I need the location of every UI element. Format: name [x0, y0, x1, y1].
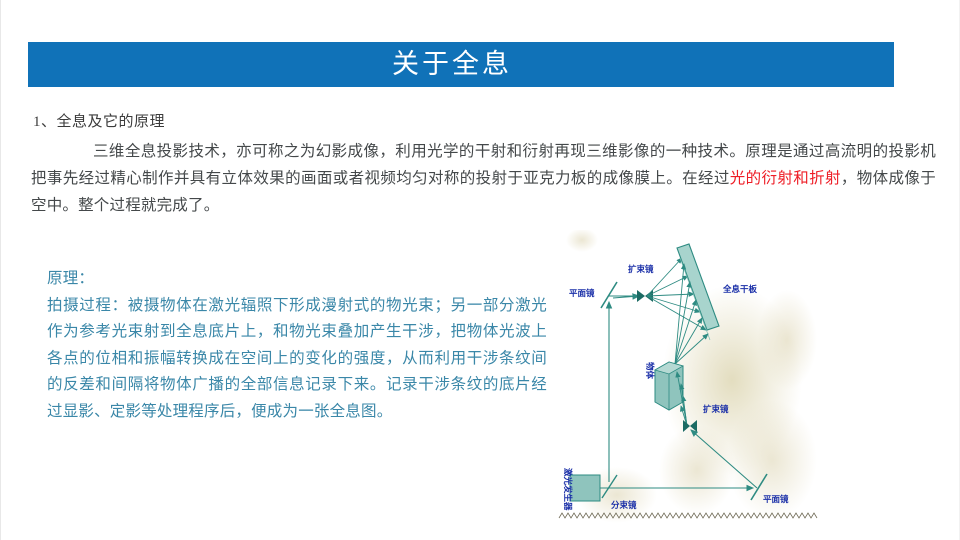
label-beam-expander-top: 扩束镜 [628, 264, 654, 274]
intro-paragraph: 三维全息投影技术，亦可称之为幻影成像，利用光学的干射和衍射再现三维影像的一种技术… [31, 138, 936, 219]
section-heading: 1、全息及它的原理 [33, 110, 165, 131]
slide-title: 关于全息 [392, 51, 530, 78]
label-beam-splitter: 分束镜 [611, 500, 637, 510]
holography-setup-diagram: 平面镜 扩束镜 全息干板 物体 扩束镜 激光发生器 分束镜 平面镜 [557, 230, 819, 530]
principle-body: 拍摄过程：被摄物体在激光辐照下形成漫射式的物光束；另一部分激光作为参考光束射到全… [47, 293, 547, 426]
slide-canvas: 关于全息 1、全息及它的原理 三维全息投影技术，亦可称之为幻影成像，利用光学的干… [0, 0, 960, 540]
principle-block: 原理： 拍摄过程：被摄物体在激光辐照下形成漫射式的物光束；另一部分激光作为参考光… [47, 266, 547, 425]
label-plane-mirror-bottom: 平面镜 [763, 494, 789, 504]
label-beam-expander-lower: 扩束镜 [703, 404, 729, 414]
reference-beam-path [609, 296, 639, 482]
principle-label: 原理： [47, 266, 547, 293]
label-object: 物体 [645, 362, 655, 380]
slide-title-bar: 关于全息 [28, 42, 894, 87]
laser-generator-icon [570, 475, 600, 501]
label-laser-generator: 激光发生器 [563, 468, 573, 511]
intro-paragraph-highlight: 光的衍射和折射 [730, 170, 841, 187]
object-icon [655, 362, 683, 410]
label-plane-mirror-top: 平面镜 [569, 288, 595, 298]
label-holographic-plate: 全息干板 [722, 284, 758, 294]
